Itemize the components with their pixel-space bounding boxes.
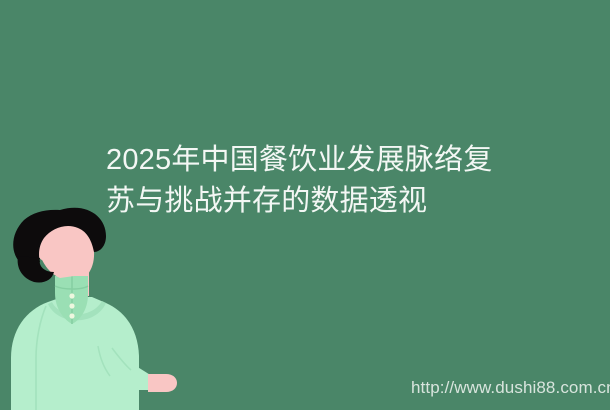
poster-canvas: 2025年中国餐饮业发展脉络复 苏与挑战并存的数据透视 http://www.d… xyxy=(0,0,610,410)
title-line-2: 苏与挑战并存的数据透视 xyxy=(106,181,558,222)
title-line-1: 2025年中国餐饮业发展脉络复 xyxy=(106,140,558,181)
hand-shape xyxy=(148,374,177,392)
person-illustration xyxy=(0,198,200,410)
page-title: 2025年中国餐饮业发展脉络复 苏与挑战并存的数据透视 xyxy=(106,140,558,222)
watermark-url: http://www.dushi88.com.cn xyxy=(411,378,610,398)
collar-buttons xyxy=(69,293,74,318)
